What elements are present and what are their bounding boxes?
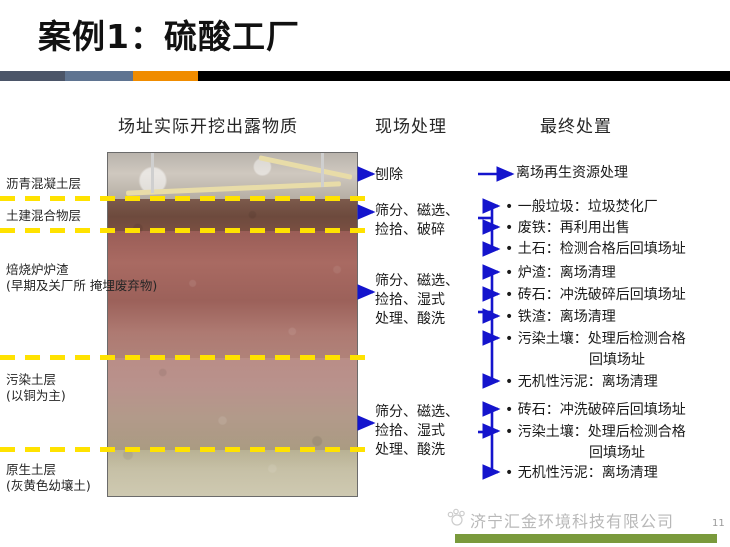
onsite-treatment-2: 筛分、磁选、 捡拾、破碎 [375, 202, 459, 240]
title-divider-bar [0, 71, 730, 81]
divider-segment-4 [198, 71, 730, 81]
final-disposal-1-0: 离场再生资源处理 [516, 163, 628, 184]
slide-root: 案例1：硫酸工厂 场址实际开挖出露物质 现场处理 最终处置 沥青混凝土层 土建混… [0, 0, 730, 547]
onsite-treatment-4: 筛分、磁选、 捡拾、湿式 处理、酸洗 [375, 403, 459, 460]
final-disposal-2-2: • 土石：检测合格后回填场址 [505, 239, 686, 260]
page-number: 11 [712, 518, 725, 529]
final-disposal-3-2: • 铁渣：离场清理 [505, 307, 616, 328]
onsite-treatment-1: 刨除 [375, 166, 403, 185]
layer-label-construction: 土建混合物层 [6, 208, 81, 224]
layer-boundary-1 [0, 196, 370, 201]
onsite-treatment-3: 筛分、磁选、 捡拾、湿式 处理、酸洗 [375, 272, 459, 329]
column-header-excavated: 场址实际开挖出露物质 [118, 112, 298, 137]
layer-boundary-2 [0, 228, 370, 233]
footer-green-bar [455, 534, 717, 543]
layer-label-contaminated: 污染土层 [6, 372, 56, 388]
photo-band-native [108, 450, 357, 497]
divider-segment-3 [133, 71, 198, 81]
layer-boundary-3 [0, 355, 370, 360]
final-disposal-3-3: • 污染土壤：处理后检测合格 回填场址 [505, 329, 686, 371]
column-header-final: 最终处置 [540, 112, 612, 137]
photo-band-slag [108, 231, 357, 358]
layer-label-slag: 焙烧炉炉渣 [6, 262, 69, 278]
excavation-profile-photo [107, 152, 358, 497]
photo-post-2 [321, 153, 324, 187]
photo-band-fill [108, 199, 357, 231]
final-disposal-4-0: • 砖石：冲洗破碎后回填场址 [505, 400, 686, 421]
paw-icon [446, 507, 468, 527]
final-disposal-4-2: • 无机性污泥：离场清理 [505, 463, 658, 484]
photo-post-1 [151, 153, 154, 193]
divider-segment-1 [0, 71, 65, 81]
final-disposal-3-4: • 无机性污泥：离场清理 [505, 372, 658, 393]
layer-label-asphalt: 沥青混凝土层 [6, 176, 81, 192]
final-disposal-3-0: • 炉渣：离场清理 [505, 263, 616, 284]
layer-label-native-sub: (灰黄色幼壤土) [6, 478, 91, 494]
layer-label-slag-sub: (早期及关厂所 掩埋废弃物) [6, 278, 157, 294]
final-disposal-4-1: • 污染土壤：处理后检测合格 回填场址 [505, 422, 686, 464]
photo-band-contaminated [108, 358, 357, 450]
page-title: 案例1：硫酸工厂 [38, 16, 300, 58]
final-disposal-3-1: • 砖石：冲洗破碎后回填场址 [505, 285, 686, 306]
layer-label-native: 原生土层 [6, 462, 56, 478]
watermark-company: 济宁汇金环境科技有限公司 [470, 508, 674, 532]
column-header-onsite: 现场处理 [375, 112, 447, 137]
layer-boundary-4 [0, 447, 370, 452]
divider-segment-2 [65, 71, 133, 81]
final-disposal-2-1: • 废铁：再利用出售 [505, 218, 630, 239]
layer-label-contaminated-sub: (以铜为主) [6, 388, 66, 404]
final-disposal-2-0: • 一般垃圾：垃圾焚化厂 [505, 197, 658, 218]
